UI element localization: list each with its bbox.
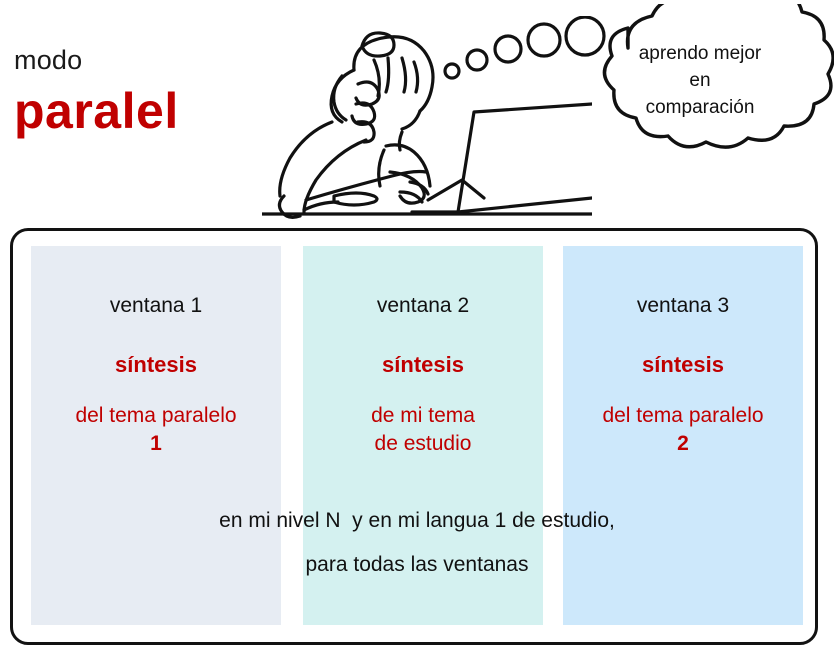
window-label-1: ventana 1 [31, 293, 281, 319]
column-detail-line2-1: 1 [31, 430, 281, 458]
header-area: modo paralel [0, 0, 834, 228]
thought-cloud: aprendo mejor en comparación [566, 4, 834, 176]
main-panel-frame: ventana 1 síntesis del tema paralelo 1 v… [10, 228, 818, 645]
cloud-text-line-2: en [588, 67, 812, 94]
mode-word-label: modo [14, 44, 284, 76]
synthesis-label-3: síntesis [563, 351, 803, 378]
cloud-text: aprendo mejor en comparación [588, 40, 812, 121]
caption-line-2: para todas las ventanas [31, 543, 803, 587]
title-block: modo paralel [14, 44, 284, 140]
cloud-text-line-3: comparación [588, 94, 812, 121]
synthesis-label-2: síntesis [303, 351, 543, 378]
caption-line-1: en mi nivel N y en mi langua 1 de estudi… [31, 499, 803, 543]
column-detail-line2-2: de estudio [303, 430, 543, 458]
column-detail-line2-3: 2 [563, 430, 803, 458]
window-label-3: ventana 3 [563, 293, 803, 319]
cloud-text-line-1: aprendo mejor [588, 40, 812, 67]
mode-name-title: paralel [14, 82, 284, 140]
column-detail-line1-3: del tema paralelo [563, 402, 803, 430]
window-label-2: ventana 2 [303, 293, 543, 319]
column-detail-line1-1: del tema paralelo [31, 402, 281, 430]
synthesis-label-1: síntesis [31, 351, 281, 378]
column-detail-line1-2: de mi tema [303, 402, 543, 430]
panel-caption: en mi nivel N y en mi langua 1 de estudi… [31, 499, 803, 587]
